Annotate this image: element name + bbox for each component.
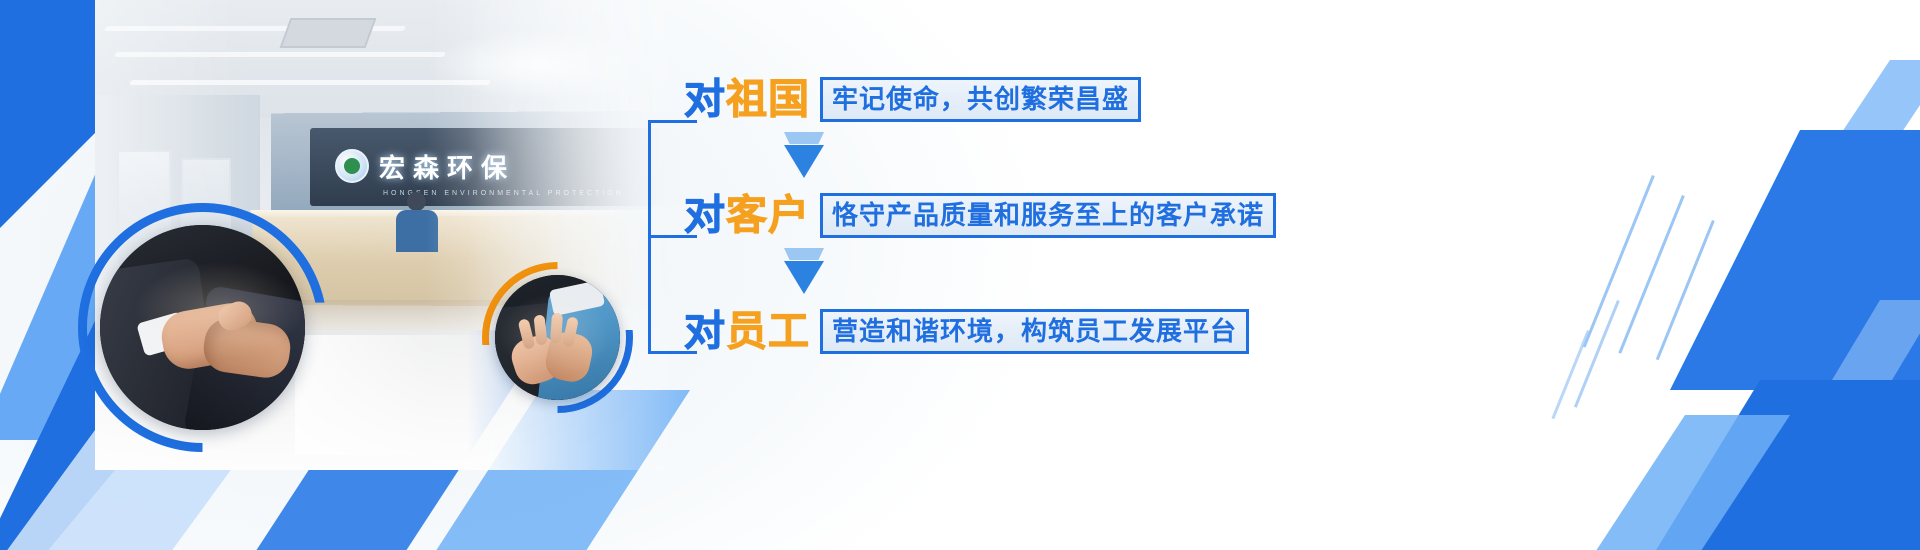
statement-heading-employee: 对员工 (684, 311, 810, 352)
chevron-down-icon (782, 248, 826, 294)
statement-row-employee: 对员工 营造和谐环境，构筑员工发展平台 (684, 304, 1348, 358)
chevron-down-icon (782, 132, 826, 178)
heading-prefix-customer: 对 (684, 195, 726, 236)
company-culture-banner: 宏森环保 HONGSEN ENVIRONMENTAL PROTECTION (0, 0, 1920, 550)
statement-text-employee: 营造和谐环境，构筑员工发展平台 (832, 318, 1237, 344)
arrow-cell-2 (684, 242, 1348, 304)
statement-box-customer: 恪守产品质量和服务至上的客户承诺 (820, 193, 1276, 238)
statement-row-customer: 对客户 恪守产品质量和服务至上的客户承诺 (684, 188, 1348, 242)
statement-heading-country: 对祖国 (684, 79, 810, 120)
heading-prefix-country: 对 (684, 79, 726, 120)
statement-text-customer: 恪守产品质量和服务至上的客户承诺 (832, 202, 1264, 228)
heading-prefix-employee: 对 (684, 311, 726, 352)
heading-highlight-customer: 客户 (726, 195, 810, 236)
statement-heading-customer: 对客户 (684, 195, 810, 236)
statement-box-employee: 营造和谐环境，构筑员工发展平台 (820, 309, 1249, 354)
heading-highlight-employee: 员工 (726, 311, 810, 352)
statement-row-country: 对祖国 牢记使命，共创繁荣昌盛 (684, 72, 1348, 126)
arrow-cell-1 (684, 126, 1348, 188)
statement-text-country: 牢记使命，共创繁荣昌盛 (832, 86, 1129, 112)
culture-statements: 对祖国 牢记使命，共创繁荣昌盛 对客户 恪守产品质量和服务至上的客户承诺 (648, 72, 1348, 392)
applause-photo-circle (495, 275, 620, 400)
statement-box-country: 牢记使命，共创繁荣昌盛 (820, 77, 1141, 122)
heading-highlight-country: 祖国 (726, 79, 810, 120)
handshake-photo-circle (100, 225, 305, 430)
